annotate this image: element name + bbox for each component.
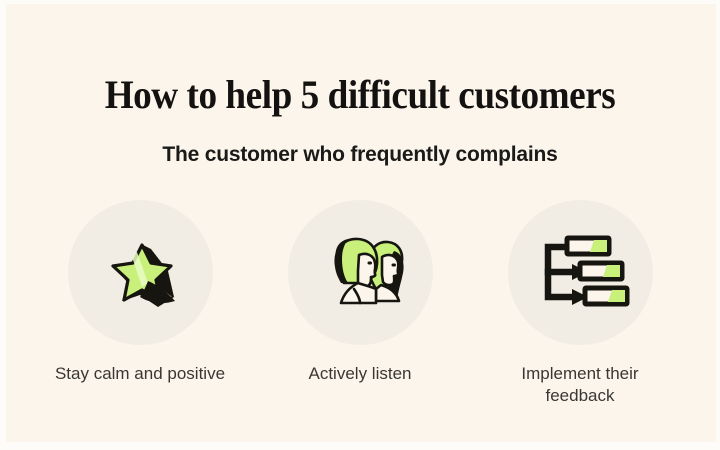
tip-card-implement-feedback: Implement their feedback: [470, 200, 690, 408]
tips-row: Stay calm and positive: [0, 200, 720, 408]
tip-card-label: Implement their feedback: [485, 363, 675, 408]
two-people-listening-icon: [308, 221, 412, 325]
page-subtitle: The customer who frequently complains: [0, 143, 720, 167]
icon-badge-actively-listen: [288, 200, 433, 345]
tip-card-actively-listen: Actively listen: [250, 200, 470, 385]
page-title: How to help 5 difficult customers: [25, 71, 695, 118]
icon-badge-implement-feedback: [508, 200, 653, 345]
shooting-star-icon: [88, 221, 192, 325]
tip-card-label: Stay calm and positive: [55, 363, 225, 385]
tip-card-stay-calm: Stay calm and positive: [30, 200, 250, 385]
icon-badge-stay-calm: [68, 200, 213, 345]
slide-canvas: How to help 5 difficult customers The cu…: [0, 0, 720, 450]
tip-card-label: Actively listen: [309, 363, 412, 385]
flowchart-feedback-icon: [528, 221, 632, 325]
